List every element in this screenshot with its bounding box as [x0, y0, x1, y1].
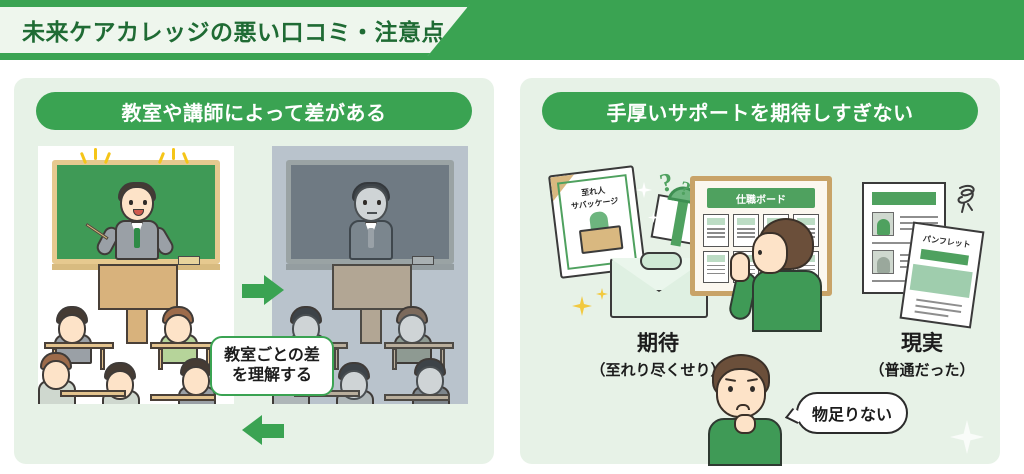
callout-line-2: を理解する: [218, 366, 326, 386]
teacher-necktie: [134, 228, 140, 248]
chalk-box-icon: [178, 256, 200, 265]
person-mouth: [736, 404, 750, 410]
bright-classroom-illustration: [38, 146, 234, 404]
speech-bubble: 物足りない: [796, 392, 908, 434]
person-eye-left: [728, 386, 733, 392]
student-head: [416, 366, 444, 396]
podium: [332, 264, 412, 310]
panel-classroom-variance: 教室や講師によって差がある: [14, 78, 494, 464]
student-head: [164, 314, 192, 344]
document-photo: [872, 250, 894, 274]
person-thinking-illustration: [700, 352, 792, 462]
label-reality: 現実 （普通だった）: [842, 327, 1002, 380]
person-eye-right: [750, 386, 755, 392]
teacher-eye-right: [143, 200, 147, 205]
person-body: [752, 270, 822, 332]
job-card: [703, 214, 729, 247]
person-eye: [758, 250, 762, 255]
callout-line-1: 教室ごとの差: [218, 346, 326, 366]
envelope-bow: [640, 252, 682, 270]
document-photo: [872, 212, 894, 236]
teacher-necktie: [368, 228, 374, 248]
gift-ribbon: [671, 198, 689, 247]
pamphlet-block: [910, 264, 973, 298]
job-board-title: 仕職ボード: [707, 188, 815, 208]
spark-line-icon: [172, 148, 175, 160]
teacher-figure: [340, 176, 402, 268]
arrow-left-icon: [242, 415, 284, 445]
person-pointing-hand: [730, 252, 750, 282]
student-head: [58, 314, 86, 344]
teacher-figure: [106, 176, 168, 268]
swirl-icon: [952, 182, 982, 216]
panel-right-heading: 手厚いサポートを期待しすぎない: [542, 92, 978, 130]
teacher-eye-left: [129, 200, 133, 205]
panel-left-heading-text: 教室や講師によって差がある: [122, 97, 387, 126]
teacher-head: [120, 186, 154, 222]
label-reality-main: 現実: [842, 327, 1002, 357]
student-desk: [60, 390, 126, 397]
desk-leg: [100, 348, 105, 370]
arrow-right-icon: [242, 275, 284, 305]
desk-leg: [392, 348, 397, 370]
panel-right-heading-text: 手厚いサポートを期待しすぎない: [606, 97, 913, 126]
page-title: 未来ケアカレッジの悪い口コミ・注意点: [22, 13, 445, 47]
panel-left-heading: 教室や講師によって差がある: [36, 92, 472, 130]
student-desk: [384, 394, 450, 401]
person-pointing-illustration: [736, 218, 830, 330]
header-title-plate: 未来ケアカレッジの悪い口コミ・注意点: [0, 4, 470, 56]
podium-stem: [126, 310, 148, 344]
teacher-eye-left: [363, 200, 367, 205]
student-head: [398, 314, 426, 344]
podium: [98, 264, 178, 310]
pamphlet-illustration: パンフレット: [900, 221, 985, 328]
teacher-eye-right: [377, 200, 381, 205]
student-head: [182, 366, 210, 396]
callout-bubble: 教室ごとの差 を理解する: [210, 336, 334, 396]
teacher-mouth: [367, 212, 377, 214]
student-desk: [150, 394, 216, 401]
person-face: [716, 368, 766, 418]
desk-leg: [158, 348, 163, 370]
brochure-gift-box: [579, 225, 624, 254]
job-card: [703, 251, 729, 284]
teacher-head: [354, 186, 388, 222]
label-reality-sub: （普通だった）: [842, 359, 1002, 380]
document-header-bar: [872, 192, 936, 205]
podium-stem: [360, 310, 382, 344]
spark-line-icon: [94, 148, 97, 160]
desk-leg: [334, 348, 339, 370]
student-head: [42, 360, 70, 390]
person-hand-on-chin: [734, 414, 756, 434]
chalk-box-icon: [412, 256, 434, 265]
pamphlet-bar: [920, 249, 969, 266]
